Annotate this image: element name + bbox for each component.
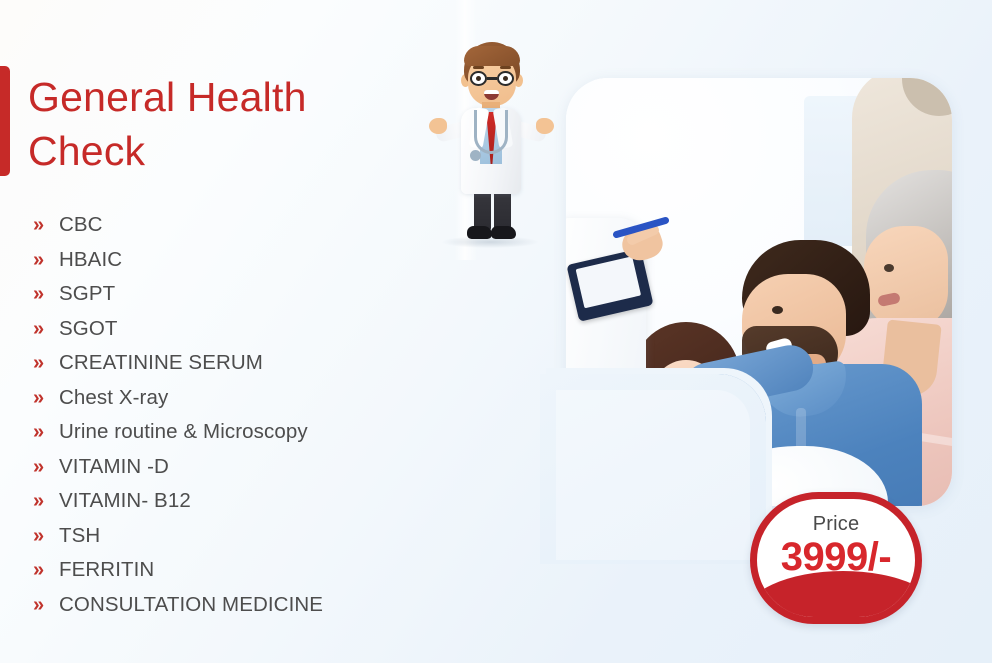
list-item-label: TSH xyxy=(59,524,100,548)
list-item-label: Chest X-ray xyxy=(59,386,168,410)
doctor-hand-left xyxy=(429,118,447,134)
list-item: » CBC xyxy=(33,208,463,243)
list-item-label: CREATININE SERUM xyxy=(59,351,263,375)
doctor-pupil-right xyxy=(503,76,508,81)
card-notch-inner xyxy=(556,390,750,560)
doctor-shoe-left xyxy=(467,226,492,239)
double-chevron-icon: » xyxy=(33,353,59,373)
doctor-shoe-right xyxy=(491,226,516,239)
price-badge: Price 3999/- xyxy=(750,492,922,624)
list-item-label: VITAMIN- B12 xyxy=(59,489,191,513)
doctor-eyebrow-right xyxy=(500,66,511,69)
double-chevron-icon: » xyxy=(33,250,59,270)
stethoscope-bell xyxy=(470,150,481,161)
double-chevron-icon: » xyxy=(33,491,59,511)
double-chevron-icon: » xyxy=(33,457,59,477)
list-item: » VITAMIN- B12 xyxy=(33,484,463,519)
doctor-eyebrow-left xyxy=(473,66,484,69)
double-chevron-icon: » xyxy=(33,215,59,235)
price-value: 3999/- xyxy=(757,535,915,580)
title-accent-bar xyxy=(0,66,10,176)
list-item: » TSH xyxy=(33,519,463,554)
cartoon-doctor xyxy=(428,40,554,250)
list-item: » CONSULTATION MEDICINE xyxy=(33,588,463,623)
doctor-teeth xyxy=(484,90,499,94)
list-item: » FERRITIN xyxy=(33,553,463,588)
list-item-label: SGOT xyxy=(59,317,118,341)
list-item: » HBAIC xyxy=(33,243,463,278)
list-item-label: CBC xyxy=(59,213,103,237)
double-chevron-icon: » xyxy=(33,595,59,615)
list-item: » CREATININE SERUM xyxy=(33,346,463,381)
list-item-label: VITAMIN -D xyxy=(59,455,169,479)
double-chevron-icon: » xyxy=(33,422,59,442)
test-list: » CBC » HBAIC » SGPT » SGOT » CREATININE… xyxy=(33,208,463,622)
page-title: General Health Check xyxy=(28,70,388,178)
double-chevron-icon: » xyxy=(33,388,59,408)
doctor-hand-right xyxy=(536,118,554,134)
price-label: Price xyxy=(757,513,915,536)
double-chevron-icon: » xyxy=(33,560,59,580)
list-item: » Chest X-ray xyxy=(33,381,463,416)
older-woman-face xyxy=(864,226,948,330)
double-chevron-icon: » xyxy=(33,284,59,304)
list-item-label: CONSULTATION MEDICINE xyxy=(59,593,323,617)
list-item: » SGOT xyxy=(33,312,463,347)
list-item-label: FERRITIN xyxy=(59,558,154,582)
glasses-bridge xyxy=(487,77,497,80)
doctor-pupil-left xyxy=(476,76,481,81)
list-item: » SGPT xyxy=(33,277,463,312)
double-chevron-icon: » xyxy=(33,319,59,339)
list-item: » Urine routine & Microscopy xyxy=(33,415,463,450)
price-badge-ring: Price 3999/- xyxy=(750,492,922,624)
list-item-label: SGPT xyxy=(59,282,115,306)
list-item-label: HBAIC xyxy=(59,248,122,272)
older-woman-eye xyxy=(884,264,894,272)
double-chevron-icon: » xyxy=(33,526,59,546)
doctor-fringe xyxy=(464,46,520,66)
man-eye xyxy=(772,306,783,314)
list-item: » VITAMIN -D xyxy=(33,450,463,485)
stethoscope-icon xyxy=(474,110,508,154)
list-item-label: Urine routine & Microscopy xyxy=(59,420,308,444)
